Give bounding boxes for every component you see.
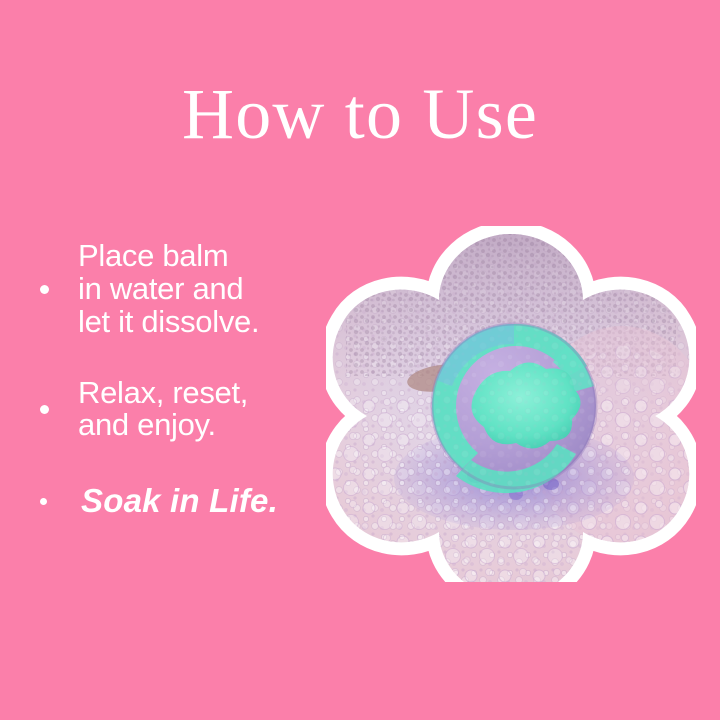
steps-list: Place balm in water and let it dissolve.… <box>40 240 320 545</box>
bath-bomb-flower-photo <box>326 226 696 582</box>
promo-graphic: How to Use Place balm in water and let i… <box>0 0 720 720</box>
bullet-dot-icon <box>40 405 49 414</box>
list-item-label: Relax, reset, and enjoy. <box>49 377 320 443</box>
list-item: Soak in Life. <box>40 484 320 519</box>
list-item: Place balm in water and let it dissolve. <box>40 240 320 339</box>
bullet-dot-icon <box>40 285 49 294</box>
list-item: Relax, reset, and enjoy. <box>40 377 320 443</box>
bullet-dot-icon <box>40 498 47 505</box>
list-item-label: Soak in Life. <box>47 484 320 519</box>
flower-photo-svg <box>326 226 696 582</box>
list-item-label: Place balm in water and let it dissolve. <box>49 240 320 339</box>
page-title: How to Use <box>0 78 720 150</box>
